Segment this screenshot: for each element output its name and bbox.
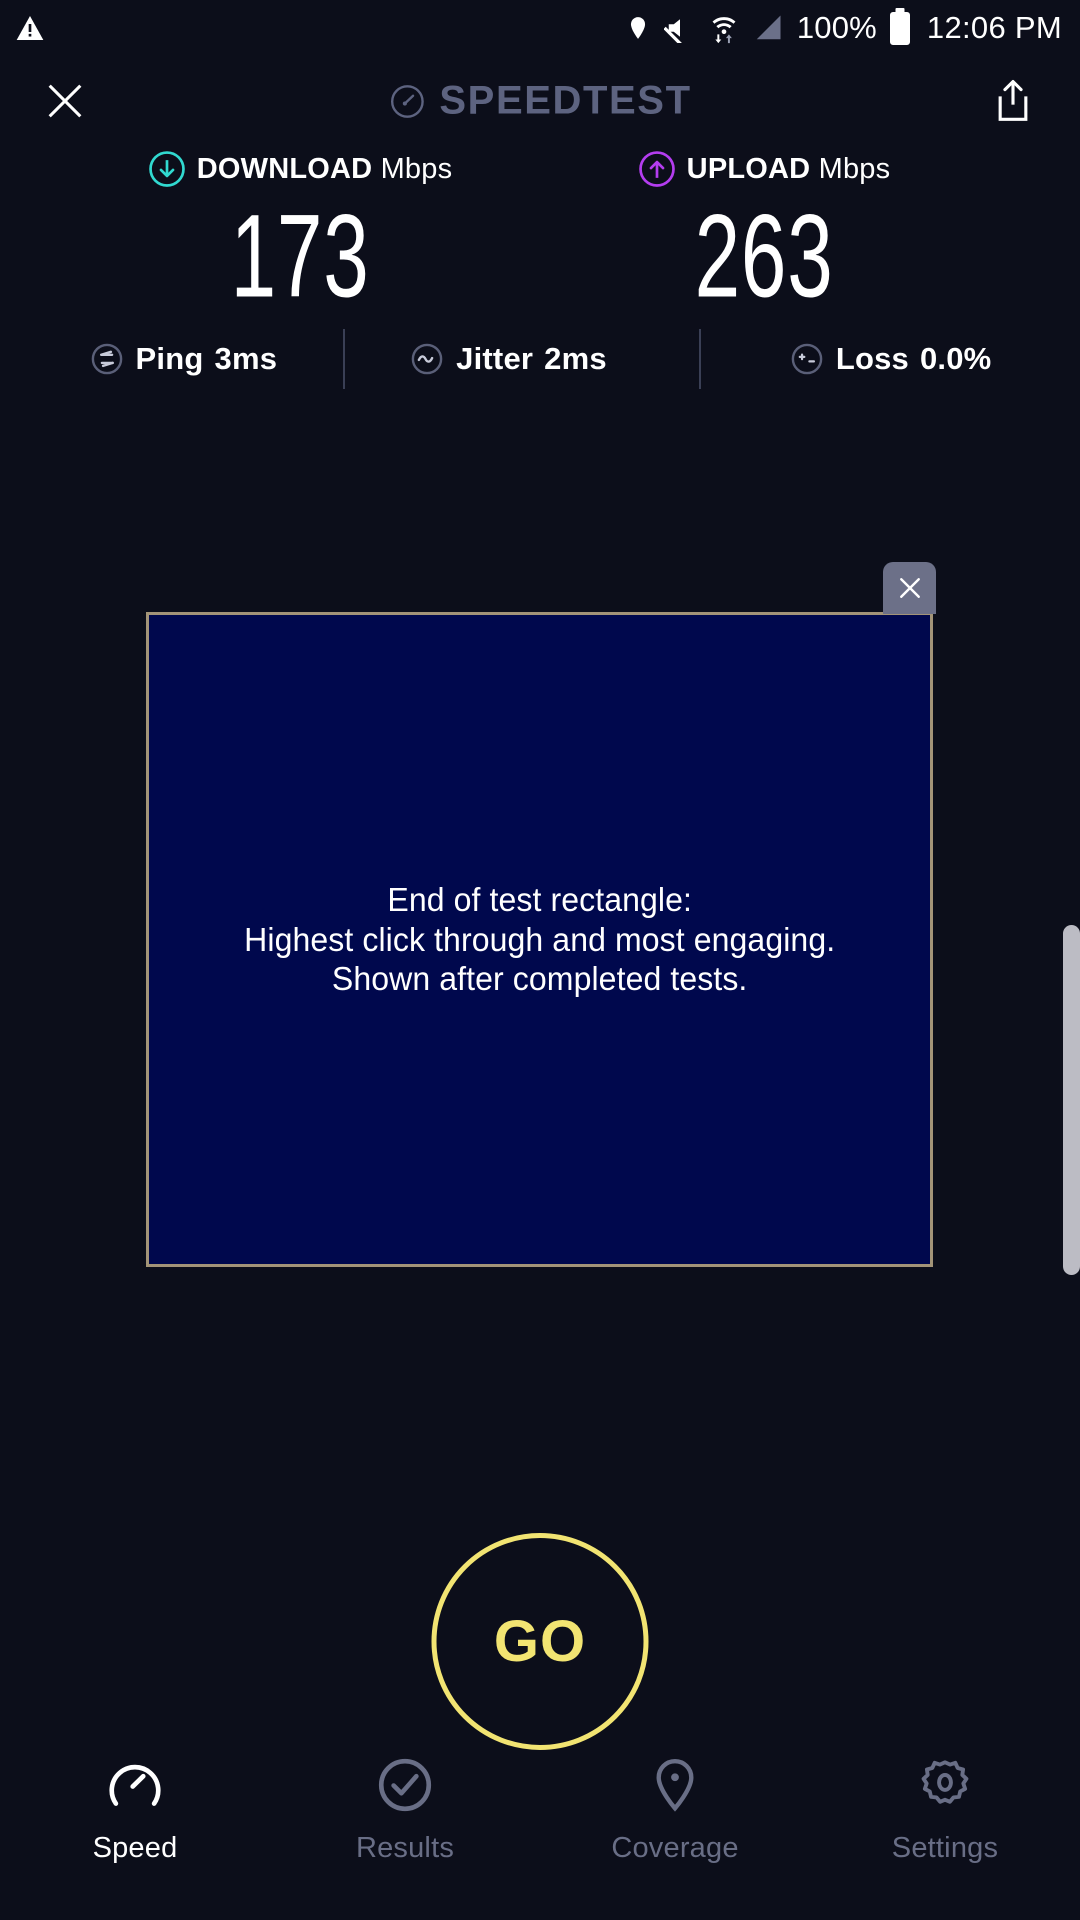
loss-icon xyxy=(789,341,825,377)
speed-gauge-icon xyxy=(104,1754,166,1816)
speed-values-row: DOWNLOAD Mbps 173 UPLOAD Mbps xyxy=(0,140,1080,303)
nav-item-coverage[interactable]: Coverage xyxy=(540,1754,810,1865)
nav-label-settings: Settings xyxy=(892,1832,998,1865)
ad-line-1: End of test rectangle: xyxy=(244,880,835,920)
wifi-icon xyxy=(709,12,739,44)
close-icon xyxy=(42,78,88,124)
metric-divider xyxy=(699,329,701,389)
upload-result: UPLOAD Mbps 263 xyxy=(540,150,960,303)
download-result: DOWNLOAD Mbps 173 xyxy=(120,150,540,303)
nav-label-results: Results xyxy=(356,1832,454,1865)
network-metrics-row: Ping 3ms Jitter 2ms xyxy=(0,329,1080,389)
nav-item-settings[interactable]: Settings xyxy=(810,1754,1080,1865)
speedtest-app-screen: 100% 12:06 PM SPEEDTEST xyxy=(0,0,1080,1920)
upload-header: UPLOAD Mbps xyxy=(638,150,891,188)
battery-full-icon xyxy=(890,12,910,45)
ad-close-button[interactable] xyxy=(883,562,936,614)
metric-jitter-value: 2ms xyxy=(544,341,607,377)
mute-icon xyxy=(664,13,696,43)
status-bar-clock: 12:06 PM xyxy=(927,10,1062,46)
ping-icon xyxy=(89,341,125,377)
status-bar-left xyxy=(14,12,46,44)
metric-divider xyxy=(343,329,345,389)
metric-loss: Loss 0.0% xyxy=(789,341,992,377)
upload-label-unit: Mbps xyxy=(819,153,891,185)
metric-loss-value: 0.0% xyxy=(920,341,991,377)
close-test-button[interactable] xyxy=(35,71,95,131)
ad-line-2: Highest click through and most engaging. xyxy=(244,920,835,960)
download-label: DOWNLOAD Mbps xyxy=(197,153,453,186)
download-label-word: DOWNLOAD xyxy=(197,153,373,185)
scrollbar-thumb[interactable] xyxy=(1063,925,1080,1275)
battery-percent: 100% xyxy=(797,10,877,46)
download-arrow-icon xyxy=(148,150,186,188)
go-button-label: GO xyxy=(494,1608,586,1675)
nav-item-results[interactable]: Results xyxy=(270,1754,540,1865)
nav-item-speed[interactable]: Speed xyxy=(0,1754,270,1865)
settings-gear-icon xyxy=(914,1754,976,1816)
upload-label: UPLOAD Mbps xyxy=(687,153,891,186)
status-bar-right: 100% 12:06 PM xyxy=(625,10,1062,46)
metric-ping-label: Ping xyxy=(136,341,204,377)
ad-text: End of test rectangle: Highest click thr… xyxy=(244,880,835,1000)
share-button[interactable] xyxy=(984,71,1042,131)
metric-ping-value: 3ms xyxy=(215,341,278,377)
advertisement-banner[interactable]: End of test rectangle: Highest click thr… xyxy=(146,612,933,1267)
brand-text: SPEEDTEST xyxy=(439,79,691,124)
brand-logo: SPEEDTEST xyxy=(388,79,691,124)
download-label-unit: Mbps xyxy=(381,153,453,185)
share-icon xyxy=(991,76,1035,126)
bottom-navigation: Speed Results Coverage Settings xyxy=(0,1740,1080,1920)
app-header: SPEEDTEST xyxy=(0,58,1080,144)
download-value: 173 xyxy=(230,198,369,316)
upload-arrow-icon xyxy=(638,150,676,188)
metric-jitter-label: Jitter xyxy=(456,341,533,377)
metric-jitter: Jitter 2ms xyxy=(409,341,607,377)
coverage-pin-icon xyxy=(644,1754,706,1816)
ad-close-icon xyxy=(895,573,925,603)
upload-value: 263 xyxy=(694,198,833,316)
warning-triangle-icon xyxy=(14,12,46,44)
ad-line-3: Shown after completed tests. xyxy=(244,959,835,999)
nav-label-speed: Speed xyxy=(93,1832,178,1865)
speedtest-gauge-icon xyxy=(388,82,426,120)
nav-label-coverage: Coverage xyxy=(611,1832,738,1865)
jitter-icon xyxy=(409,341,445,377)
download-header: DOWNLOAD Mbps xyxy=(148,150,453,188)
go-button[interactable]: GO xyxy=(432,1533,649,1750)
cellular-signal-icon xyxy=(752,13,784,43)
test-results-panel: DOWNLOAD Mbps 173 UPLOAD Mbps xyxy=(0,140,1080,389)
results-check-icon xyxy=(374,1754,436,1816)
metric-ping: Ping 3ms xyxy=(89,341,278,377)
location-pin-icon xyxy=(625,12,651,44)
metric-loss-label: Loss xyxy=(836,341,909,377)
upload-label-word: UPLOAD xyxy=(687,153,811,185)
status-bar: 100% 12:06 PM xyxy=(0,0,1080,56)
